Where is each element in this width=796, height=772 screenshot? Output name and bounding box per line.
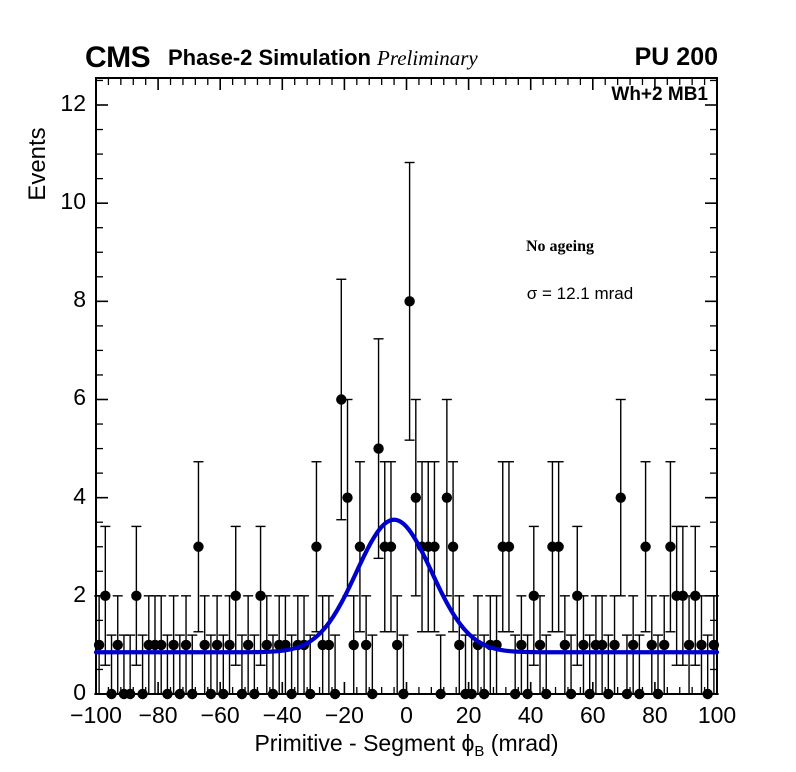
- data-point: [516, 596, 526, 694]
- marker: [330, 689, 340, 699]
- marker: [553, 542, 563, 552]
- marker: [94, 640, 104, 650]
- data-point: [553, 462, 563, 632]
- marker: [647, 640, 657, 650]
- data-point: [168, 596, 178, 694]
- marker: [386, 542, 396, 552]
- marker: [125, 689, 135, 699]
- marker: [355, 542, 365, 552]
- marker: [634, 689, 644, 699]
- marker: [448, 542, 458, 552]
- data-point: [535, 596, 545, 694]
- data-points-group: [94, 163, 719, 700]
- y-tick-label: 8: [38, 286, 86, 313]
- data-point: [131, 526, 141, 665]
- data-point: [386, 462, 396, 632]
- marker: [193, 542, 203, 552]
- data-point: [442, 399, 452, 595]
- x-tick-label: 100: [677, 702, 757, 729]
- marker: [212, 640, 222, 650]
- marker: [684, 640, 694, 650]
- marker: [243, 640, 253, 650]
- marker: [566, 689, 576, 699]
- marker: [535, 640, 545, 650]
- marker: [156, 640, 166, 650]
- marker: [398, 689, 408, 699]
- marker: [560, 640, 570, 650]
- marker: [311, 542, 321, 552]
- data-point: [193, 462, 203, 632]
- data-point: [616, 399, 626, 595]
- y-tick-label: 12: [38, 90, 86, 117]
- marker: [262, 640, 272, 650]
- marker: [640, 542, 650, 552]
- data-point: [640, 462, 650, 632]
- y-tick-label: 6: [38, 384, 86, 411]
- data-point: [181, 596, 191, 694]
- data-point: [560, 596, 570, 694]
- data-point: [224, 596, 234, 694]
- data-point: [199, 596, 209, 694]
- marker: [367, 689, 377, 699]
- data-point: [454, 596, 464, 694]
- marker: [411, 492, 421, 502]
- marker: [231, 591, 241, 601]
- marker: [429, 542, 439, 552]
- data-point: [342, 399, 352, 595]
- data-point: [355, 462, 365, 632]
- marker: [609, 640, 619, 650]
- data-point: [696, 596, 706, 694]
- marker: [305, 689, 315, 699]
- marker: [659, 640, 669, 650]
- marker: [324, 640, 334, 650]
- marker: [616, 492, 626, 502]
- data-point: [243, 596, 253, 694]
- marker: [404, 296, 414, 306]
- data-point: [504, 462, 514, 632]
- data-point: [684, 596, 694, 694]
- data-point: [597, 596, 607, 694]
- data-point: [491, 596, 501, 694]
- marker: [709, 640, 719, 650]
- y-tick-label: 2: [38, 581, 86, 608]
- data-point: [659, 596, 669, 694]
- marker: [349, 640, 359, 650]
- marker: [578, 640, 588, 650]
- marker: [442, 492, 452, 502]
- data-point: [647, 596, 657, 694]
- marker: [131, 591, 141, 601]
- marker: [665, 542, 675, 552]
- marker: [435, 689, 445, 699]
- marker: [522, 689, 532, 699]
- marker: [454, 640, 464, 650]
- data-point: [324, 596, 334, 694]
- marker: [249, 689, 259, 699]
- plot-graphics: [0, 0, 796, 772]
- data-point: [280, 596, 290, 694]
- marker: [392, 640, 402, 650]
- data-point: [392, 596, 402, 694]
- plot-frame: [96, 78, 717, 694]
- marker: [628, 640, 638, 650]
- data-point: [404, 163, 414, 441]
- data-point: [156, 596, 166, 694]
- y-tick-label: 0: [38, 679, 86, 706]
- marker: [541, 689, 551, 699]
- data-point: [349, 596, 359, 694]
- marker: [181, 640, 191, 650]
- marker: [361, 640, 371, 650]
- marker: [168, 640, 178, 650]
- marker: [342, 492, 352, 502]
- data-point: [212, 596, 222, 694]
- marker: [113, 640, 123, 650]
- data-point: [578, 596, 588, 694]
- marker: [504, 542, 514, 552]
- plot-canvas: CMS Phase-2 Simulation Preliminary PU 20…: [0, 0, 796, 772]
- data-point: [665, 462, 675, 632]
- data-point: [628, 596, 638, 694]
- marker: [597, 640, 607, 650]
- data-point: [609, 596, 619, 694]
- data-point: [113, 596, 123, 694]
- data-point: [311, 462, 321, 632]
- marker: [187, 689, 197, 699]
- marker: [516, 640, 526, 650]
- data-point: [361, 596, 371, 694]
- marker: [373, 443, 383, 453]
- marker: [224, 640, 234, 650]
- data-point: [262, 596, 272, 694]
- y-tick-label: 10: [38, 188, 86, 215]
- data-point: [429, 462, 439, 632]
- marker: [199, 640, 209, 650]
- marker: [696, 640, 706, 650]
- y-tick-label: 4: [38, 483, 86, 510]
- gaussian-fit-curve: [96, 520, 717, 653]
- marker: [100, 591, 110, 601]
- data-point: [411, 399, 421, 595]
